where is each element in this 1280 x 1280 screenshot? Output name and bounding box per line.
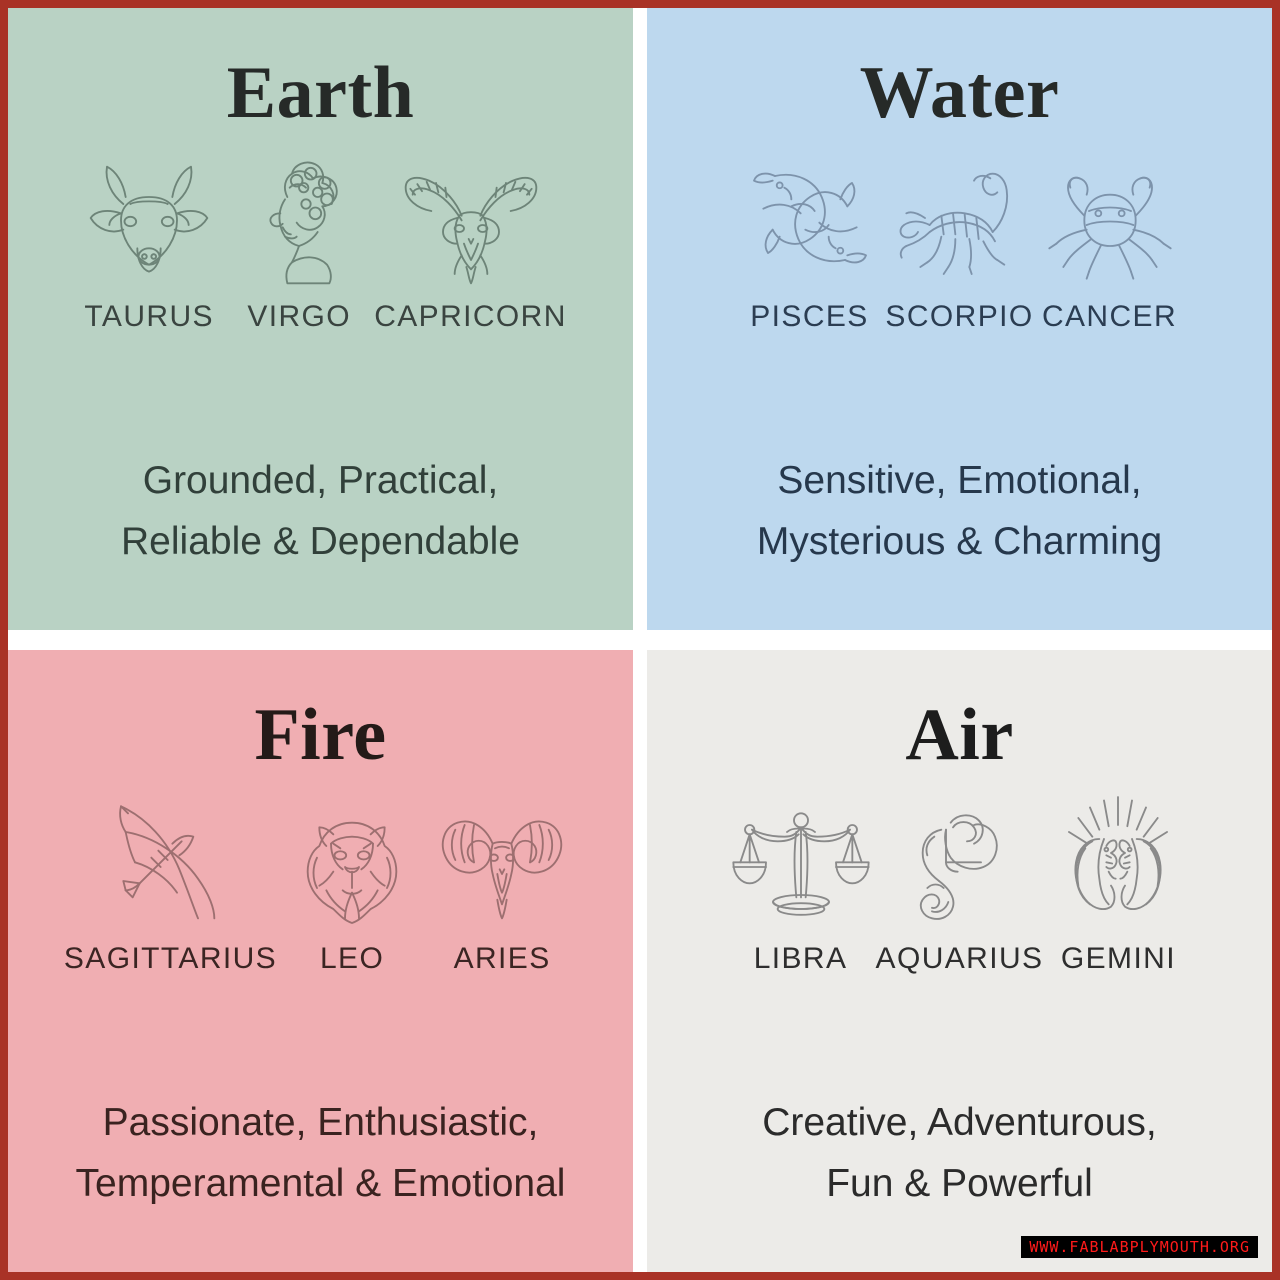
sign-libra: LIBRA <box>726 790 876 976</box>
two-fish-icon <box>735 148 885 288</box>
bull-head-icon <box>74 148 224 288</box>
crab-icon <box>1035 148 1185 288</box>
sign-leo: LEO <box>277 790 427 976</box>
element-title-air: Air <box>905 698 1013 772</box>
bow-and-arrow-icon <box>95 790 245 930</box>
sign-label: ARIES <box>454 942 551 976</box>
element-title-earth: Earth <box>227 56 415 130</box>
lion-head-icon <box>277 790 427 930</box>
twins-icon <box>1043 790 1193 930</box>
water-bearer-urn-icon <box>885 790 1035 930</box>
sign-capricorn: CAPRICORN <box>374 148 567 334</box>
sign-label: SAGITTARIUS <box>64 942 277 976</box>
element-title-fire: Fire <box>254 698 386 772</box>
description-air: Creative, Adventurous, Fun & Powerful <box>744 1093 1175 1214</box>
description-water: Sensitive, Emotional, Mysterious & Charm… <box>739 451 1180 572</box>
sign-label: LIBRA <box>754 942 848 976</box>
sign-pisces: PISCES <box>735 148 885 334</box>
description-line: Grounded, Practical, <box>121 451 520 511</box>
description-line: Mysterious & Charming <box>757 512 1162 572</box>
quadrant-fire: Fire <box>8 650 633 1272</box>
sign-sagittarius: SAGITTARIUS <box>64 790 277 976</box>
zodiac-elements-infographic: Earth <box>0 0 1280 1280</box>
sign-virgo: VIRGO <box>224 148 374 334</box>
description-line: Passionate, Enthusiastic, <box>76 1093 566 1153</box>
signs-row-air: LIBRA <box>647 790 1272 976</box>
sign-label: PISCES <box>750 300 868 334</box>
element-title-water: Water <box>860 56 1060 130</box>
sign-aquarius: AQUARIUS <box>876 790 1044 976</box>
description-line: Sensitive, Emotional, <box>757 451 1162 511</box>
sign-label: GEMINI <box>1061 942 1176 976</box>
sign-label: TAURUS <box>84 300 214 334</box>
sign-scorpio: SCORPIO <box>885 148 1035 334</box>
sign-cancer: CANCER <box>1035 148 1185 334</box>
ram-head-icon <box>427 790 577 930</box>
sign-label: CAPRICORN <box>374 300 567 334</box>
maiden-profile-icon <box>224 148 374 288</box>
watermark: WWW.FABLABPLYMOUTH.ORG <box>1021 1236 1258 1258</box>
description-line: Fun & Powerful <box>762 1154 1157 1214</box>
sign-label: LEO <box>320 942 384 976</box>
sign-aries: ARIES <box>427 790 577 976</box>
goat-head-icon <box>396 148 546 288</box>
description-line: Temperamental & Emotional <box>76 1154 566 1214</box>
sign-gemini: GEMINI <box>1043 790 1193 976</box>
elements-grid: Earth <box>8 8 1272 1272</box>
sign-label: CANCER <box>1042 300 1177 334</box>
description-fire: Passionate, Enthusiastic, Temperamental … <box>58 1093 584 1214</box>
sign-taurus: TAURUS <box>74 148 224 334</box>
scorpion-icon <box>885 148 1035 288</box>
balance-scales-icon <box>726 790 876 930</box>
signs-row-fire: SAGITTARIUS <box>8 790 633 976</box>
quadrant-earth: Earth <box>8 8 633 630</box>
description-earth: Grounded, Practical, Reliable & Dependab… <box>103 451 538 572</box>
quadrant-air: Air <box>647 650 1272 1272</box>
description-line: Creative, Adventurous, <box>762 1093 1157 1153</box>
sign-label: SCORPIO <box>885 300 1033 334</box>
sign-label: VIRGO <box>247 300 351 334</box>
signs-row-water: PISCES <box>647 148 1272 334</box>
signs-row-earth: TAURUS <box>8 148 633 334</box>
description-line: Reliable & Dependable <box>121 512 520 572</box>
sign-label: AQUARIUS <box>876 942 1044 976</box>
quadrant-water: Water <box>647 8 1272 630</box>
